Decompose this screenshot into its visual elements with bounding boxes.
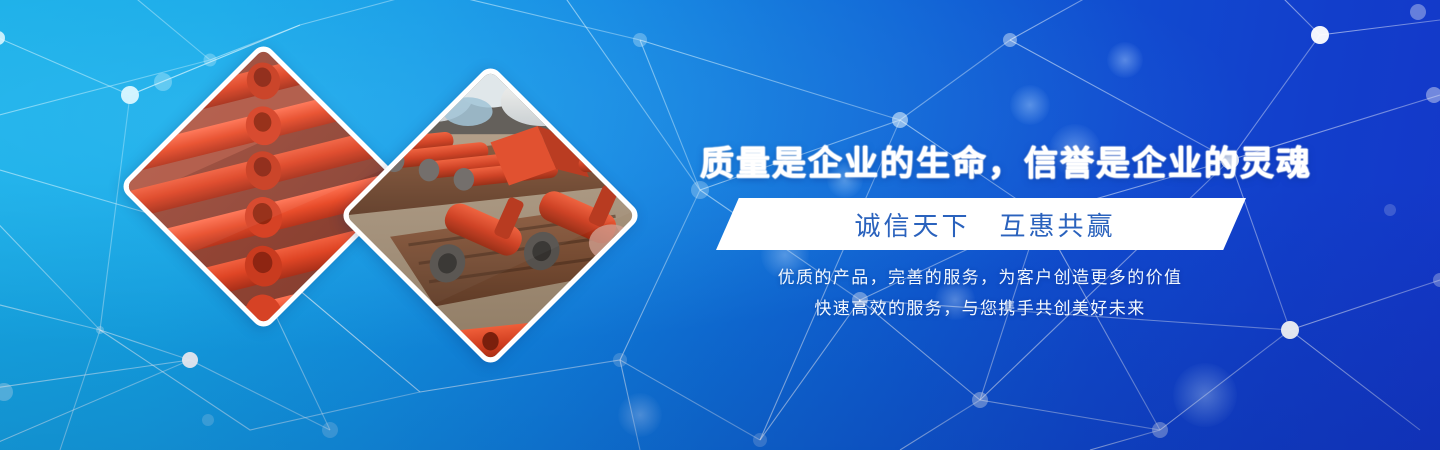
diamond-right-inner [346,71,636,361]
banner-headline: 质量是企业的生命，信誉是企业的灵魂 [700,136,1260,185]
promo-banner: 质量是企业的生命，信誉是企业的灵魂 诚信天下 互惠共赢 优质的产品，完善的服务，… [0,0,1440,450]
slogan-ribbon: 诚信天下 互惠共赢 [716,198,1246,250]
slogan-ribbon-text: 诚信天下 互惠共赢 [854,206,1115,243]
banner-subline-2: 快速高效的服务，与您携手共创美好未来 [700,293,1260,324]
banner-subline-1: 优质的产品，完善的服务，为客户创造更多的价值 [700,262,1260,293]
banner-sublines: 优质的产品，完善的服务，为客户创造更多的价值 快速高效的服务，与您携手共创美好未… [700,262,1260,324]
diamond-photo-drive-shafts-pallets [338,63,642,367]
diamond-photo-drive-shafts-rows [119,42,409,332]
diamond-left-inner [126,49,402,325]
drive-shafts-pallets-illustration [346,71,636,361]
drive-shafts-rows-illustration [126,49,402,325]
